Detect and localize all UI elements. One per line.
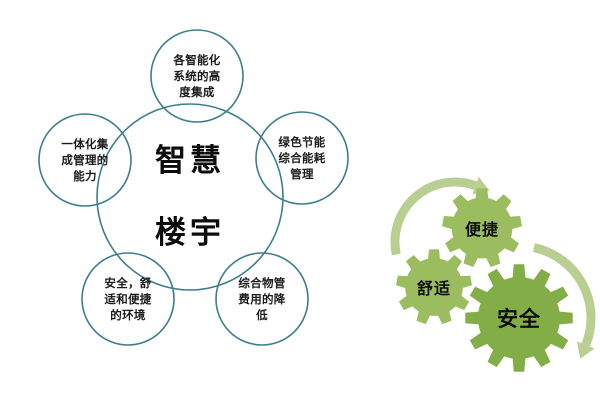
gear-hub-comfort [407, 260, 460, 313]
gear-comfort [396, 249, 472, 324]
venn-circles-group [39, 30, 348, 345]
gear-safety [465, 264, 572, 371]
gear-hub-safety [481, 280, 557, 356]
venn-petal-circle-cost-saving [216, 253, 308, 345]
gear-hub-convenient [454, 200, 510, 256]
diagram-svg [0, 0, 600, 400]
diagram-canvas: 智慧 楼宇各智能化 系统的高 度集成绿色节能 综合能耗 管理综合物管 费用的降 … [0, 0, 600, 400]
gear-shapes-group [396, 188, 573, 371]
venn-center-circle [97, 104, 283, 290]
gear-convenient [442, 188, 522, 267]
